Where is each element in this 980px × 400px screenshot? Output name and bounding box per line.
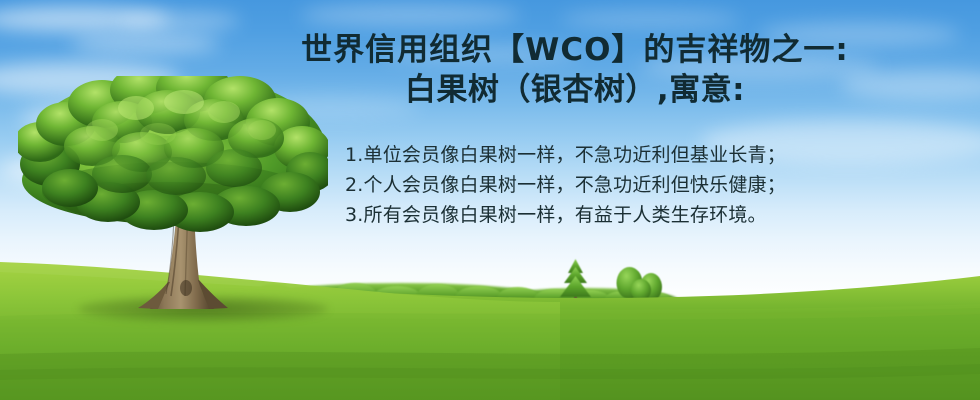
- title-line-2: 白果树（银杏树）,寓意:: [230, 70, 920, 110]
- wco-mascot-banner: 世界信用组织【WCO】的吉祥物之一: 白果树（银杏树）,寓意: 1.单位会员像白…: [0, 0, 980, 400]
- body-line-1: 1.单位会员像白果树一样，不急功近利但基业长青；: [345, 140, 885, 170]
- banner-text-layer: 世界信用组织【WCO】的吉祥物之一: 白果树（银杏树）,寓意: 1.单位会员像白…: [0, 0, 980, 400]
- banner-title: 世界信用组织【WCO】的吉祥物之一: 白果树（银杏树）,寓意:: [230, 30, 920, 110]
- title-line-1: 世界信用组织【WCO】的吉祥物之一:: [230, 30, 920, 70]
- body-line-2: 2.个人会员像白果树一样，不急功近利但快乐健康；: [345, 170, 885, 200]
- body-line-3: 3.所有会员像白果树一样，有益于人类生存环境。: [345, 200, 885, 230]
- banner-body-list: 1.单位会员像白果树一样，不急功近利但基业长青； 2.个人会员像白果树一样，不急…: [285, 140, 885, 230]
